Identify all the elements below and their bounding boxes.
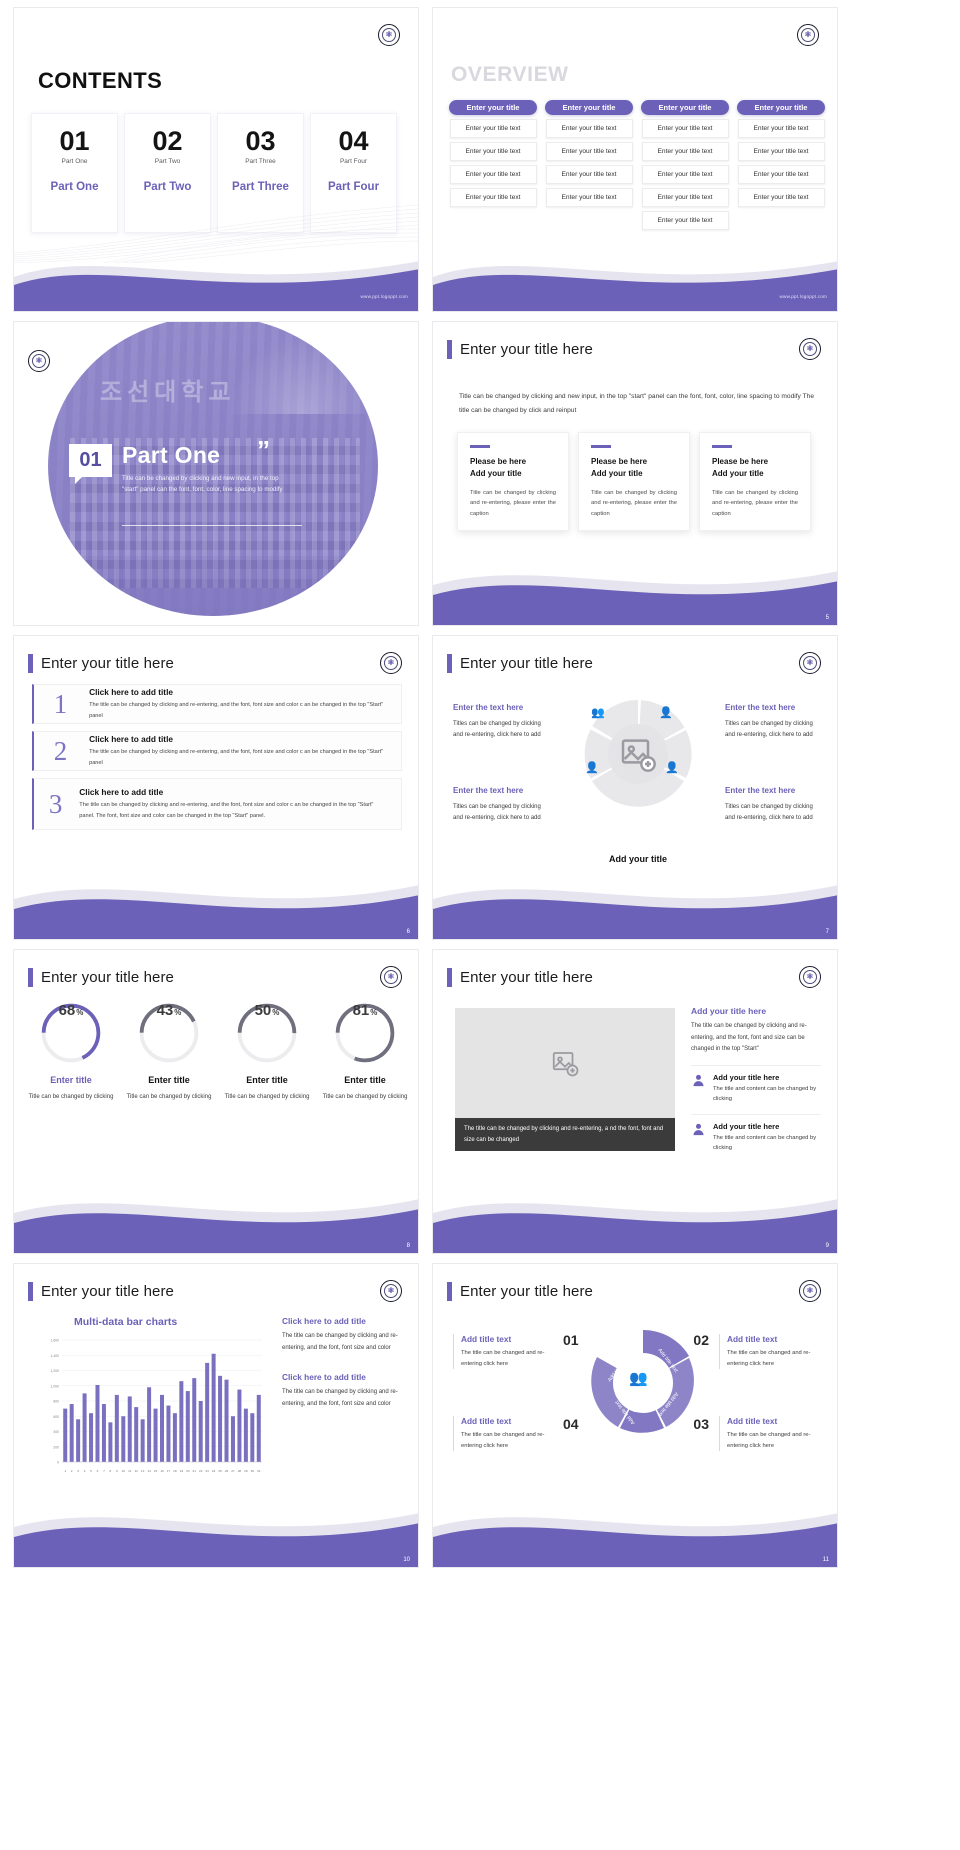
bar (257, 1395, 261, 1462)
cell-body: The title can be changed and re-entering… (727, 1348, 823, 1369)
panel-body: The title can be changed by clicking and… (691, 1021, 821, 1056)
footer-wave (14, 1493, 419, 1567)
donut-title: Enter title (148, 1075, 190, 1085)
donut-value: 81 (353, 1002, 370, 1019)
x-axis-tick-label: 13 (141, 1469, 145, 1473)
x-axis-tick-label: 3 (77, 1469, 79, 1473)
bar (250, 1413, 254, 1462)
slide-header: Enter your title here (447, 1282, 593, 1301)
x-axis-tick-label: 12 (134, 1469, 138, 1473)
slide-overview[interactable]: ⚛ OVERVIEW Enter your title Enter your t… (432, 7, 838, 312)
bar (134, 1407, 138, 1462)
item-body: The title and content can be changed by … (713, 1084, 821, 1105)
card-label: Part One (51, 181, 99, 193)
title-accent-bar (28, 968, 33, 987)
person-reading-icon: 👤 (665, 761, 679, 774)
cell-heading: Add title text (461, 1334, 557, 1344)
overview-item[interactable]: Enter your title text (450, 119, 537, 138)
donut-body: Title can be changed by clicking (127, 1092, 212, 1103)
page-number: 8 (407, 1243, 410, 1249)
image-placeholder-icon (618, 734, 658, 774)
donut-body: Title can be changed by clicking (323, 1092, 408, 1103)
x-axis-tick-label: 5 (90, 1469, 92, 1473)
y-axis-tick-label: 1,200 (51, 1369, 60, 1373)
university-crest-icon: ⚛ (799, 966, 821, 988)
donut-body: Title can be changed by clicking (29, 1092, 114, 1103)
university-crest-icon: ⚛ (378, 24, 400, 46)
block-heading: Enter the text here (725, 700, 821, 716)
bar (108, 1422, 112, 1462)
slide-header: Enter your title here (28, 1282, 174, 1301)
bar (205, 1363, 209, 1462)
x-axis-tick-label: 8 (110, 1469, 112, 1473)
slide-header: Enter your title here (447, 968, 593, 987)
donut-row: 68% Enter title Title can be changed by … (22, 1002, 414, 1103)
bar (186, 1391, 190, 1462)
overview-column: Enter your title Enter your title text E… (640, 100, 730, 230)
card-heading-line1: Please be here (712, 457, 768, 466)
x-axis-tick-label: 2 (71, 1469, 73, 1473)
block-body: Titles can be changed by clicking and re… (725, 802, 821, 825)
x-axis-tick-label: 9 (116, 1469, 118, 1473)
row-heading: Click here to add title (89, 687, 389, 697)
slide-three-cards[interactable]: ⚛ Enter your title here Title can be cha… (432, 321, 838, 626)
university-crest-icon: ⚛ (28, 350, 50, 372)
x-axis-tick-label: 1 (64, 1469, 66, 1473)
text-block-bottom-left: Enter the text here Titles can be change… (453, 783, 549, 825)
y-axis-tick-label: 0 (57, 1461, 59, 1465)
cycle-cell-3[interactable]: Add title text The title can be changed … (719, 1416, 823, 1451)
cell-heading: Add title text (727, 1416, 823, 1426)
column-pill[interactable]: Enter your title (545, 100, 633, 115)
quote-mark-icon: ” (257, 440, 270, 461)
overview-item[interactable]: Enter your title text (738, 188, 825, 207)
x-axis-tick-label: 14 (147, 1469, 151, 1473)
page-title: Enter your title here (41, 969, 174, 986)
cell-body: The title can be changed and re-entering… (461, 1430, 557, 1451)
title-accent-bar (447, 340, 452, 359)
x-axis-tick-label: 20 (186, 1469, 190, 1473)
x-axis-tick-label: 23 (205, 1469, 209, 1473)
info-card[interactable]: Please be hereAdd your title Title can b… (457, 432, 569, 531)
page-title: OVERVIEW (451, 63, 569, 87)
card-body: Title can be changed by clicking and re-… (591, 488, 677, 520)
bar (89, 1413, 93, 1462)
row-body: The title can be changed by clicking and… (79, 800, 389, 820)
donut-chart: 43% (138, 1002, 200, 1064)
row-heading: Click here to add title (79, 787, 389, 797)
donut-title: Enter title (246, 1075, 288, 1085)
slide-cycle-diagram[interactable]: ⚛ Enter your title here Add title text T… (432, 1263, 838, 1568)
row-body: The title can be changed by clicking and… (89, 700, 389, 720)
page-number: 5 (826, 615, 829, 621)
bar (237, 1390, 241, 1462)
overview-item[interactable]: Enter your title text (738, 165, 825, 184)
footer-wave (433, 1493, 838, 1567)
card-heading-line1: Please be here (470, 457, 526, 466)
row-heading: Click here to add title (89, 734, 389, 744)
slide-image-and-list[interactable]: ⚛ Enter your title here The title can be… (432, 949, 838, 1254)
title-accent-bar (447, 654, 452, 673)
chart-title: Multi-data bar charts (74, 1316, 177, 1328)
university-crest-icon: ⚛ (799, 652, 821, 674)
user-circle-icon: 👤 (585, 761, 599, 774)
bar (199, 1401, 203, 1462)
block-heading: Enter the text here (453, 783, 549, 799)
column-pill[interactable]: Enter your title (449, 100, 537, 115)
side-panel: Add your title here The title can be cha… (691, 1006, 821, 1154)
overview-item[interactable]: Enter your title text (450, 142, 537, 161)
card-number: 04 (338, 128, 368, 155)
x-axis-tick-label: 7 (103, 1469, 105, 1473)
team-people-icon: 👥 (629, 1369, 648, 1387)
x-axis-tick-label: 10 (122, 1469, 126, 1473)
overview-item[interactable]: Enter your title text (642, 188, 729, 207)
item-heading: Add your title here (713, 1073, 821, 1082)
row-number: 1 (46, 689, 75, 720)
bar (63, 1409, 67, 1462)
overview-column: Enter your title Enter your title text E… (736, 100, 826, 230)
part-heading: Part One (122, 442, 220, 469)
text-block-bottom-right: Enter the text here Titles can be change… (725, 783, 821, 825)
bar (121, 1416, 125, 1462)
donut-chart: 81% (334, 1002, 396, 1064)
slide-header: Enter your title here (28, 654, 174, 673)
slide-circle-segments[interactable]: ⚛ Enter your title here Enter the text h… (432, 635, 838, 940)
donut-item[interactable]: 50% Enter title Title can be changed by … (218, 1002, 316, 1103)
bar (212, 1354, 216, 1462)
overview-item[interactable]: Enter your title text (546, 142, 633, 161)
donut-unit: % (370, 1008, 377, 1017)
footer-wave (433, 1179, 838, 1253)
overview-item[interactable]: Enter your title text (642, 165, 729, 184)
card-row: Please be hereAdd your title Title can b… (457, 432, 811, 531)
title-accent-bar (447, 968, 452, 987)
diagram-caption: Add your title (578, 854, 698, 864)
page-title: Enter your title here (41, 655, 174, 672)
y-axis-tick-label: 1,400 (51, 1354, 60, 1358)
overview-item[interactable]: Enter your title text (546, 119, 633, 138)
person-badge-icon: 👤 (659, 706, 673, 719)
note-heading: Click here to add title (282, 1316, 407, 1326)
page-number: 11 (823, 1557, 829, 1563)
bar (102, 1404, 106, 1462)
chart-side-notes: Click here to add title The title can be… (282, 1316, 407, 1411)
overview-item[interactable]: Enter your title text (450, 165, 537, 184)
footer-wave (433, 237, 838, 311)
donut-chart: 68% (40, 1002, 102, 1064)
user-icon (691, 1122, 706, 1137)
block-body: Titles can be changed by clicking and re… (453, 802, 549, 825)
x-axis-tick-label: 22 (199, 1469, 203, 1473)
y-axis-tick-label: 1,600 (51, 1339, 60, 1343)
item-heading: Add your title here (713, 1122, 821, 1131)
bar (231, 1416, 235, 1462)
donut-unit: % (272, 1008, 279, 1017)
cycle-cell-2[interactable]: Add title text The title can be changed … (719, 1334, 823, 1369)
slide-part-one-cover[interactable]: ⚛ 조선대학교 01 Part One ” Title can be chang… (13, 321, 419, 626)
page-number: 9 (826, 1243, 829, 1249)
cycle-cell-4[interactable]: Add title text The title can be changed … (453, 1416, 557, 1451)
part-number-badge: 01 (69, 444, 112, 477)
bar (218, 1376, 222, 1462)
overview-column: Enter your title Enter your title text E… (544, 100, 634, 230)
bar (154, 1409, 158, 1462)
overview-item[interactable]: Enter your title text (546, 165, 633, 184)
card-accent-dash (470, 445, 490, 448)
card-label: Part Two (144, 181, 192, 193)
donut-value: 50 (255, 1002, 272, 1019)
user-icon (691, 1073, 706, 1088)
x-axis-tick-label: 24 (212, 1469, 216, 1473)
note-heading: Click here to add title (282, 1372, 407, 1382)
footer-wave (14, 1179, 419, 1253)
slide-percent-donuts[interactable]: ⚛ Enter your title here 68% Enter title … (13, 949, 419, 1254)
donut-item[interactable]: 81% Enter title Title can be changed by … (316, 1002, 414, 1103)
bar (147, 1387, 151, 1462)
bar (166, 1406, 170, 1462)
row-body: The title can be changed by clicking and… (89, 747, 389, 767)
info-card[interactable]: Please be hereAdd your title Title can b… (699, 432, 811, 531)
x-axis-tick-label: 6 (97, 1469, 99, 1473)
list-item[interactable]: 3 Click here to add title The title can … (32, 778, 402, 830)
overview-item[interactable]: Enter your title text (738, 119, 825, 138)
group-people-icon: 👥 (591, 706, 605, 719)
donut-unit: % (76, 1008, 83, 1017)
card-heading-line2: Add your title (591, 469, 643, 478)
bar (95, 1385, 99, 1462)
card-body: Title can be changed by clicking and re-… (712, 488, 798, 520)
card-heading-line1: Please be here (591, 457, 647, 466)
page-number: 4 (407, 615, 410, 621)
x-axis-tick-label: 16 (160, 1469, 164, 1473)
slide-deck-grid: ⚛ CONTENTS 01 Part One Part One 02 Part … (0, 0, 960, 1568)
card-subtitle: Part One (61, 158, 87, 165)
donut-item[interactable]: 43% Enter title Title can be changed by … (120, 1002, 218, 1103)
slide-numbered-list[interactable]: ⚛ Enter your title here 1 Click here to … (13, 635, 419, 940)
bar (179, 1381, 183, 1462)
card-label: Part Four (328, 181, 379, 193)
overview-column: Enter your title Enter your title text E… (448, 100, 538, 230)
page-title: Enter your title here (460, 655, 593, 672)
cycle-number-01: 01 (563, 1332, 579, 1348)
page-title: Enter your title here (41, 1283, 174, 1300)
x-axis-tick-label: 11 (128, 1469, 131, 1473)
title-accent-bar (28, 654, 33, 673)
overview-item[interactable]: Enter your title text (642, 119, 729, 138)
row-number: 3 (46, 789, 65, 820)
x-axis-tick-label: 31 (257, 1469, 261, 1473)
donut-chart: 50% (236, 1002, 298, 1064)
university-crest-icon: ⚛ (799, 1280, 821, 1302)
block-body: Titles can be changed by clicking and re… (725, 719, 821, 742)
y-axis-tick-label: 600 (53, 1415, 59, 1419)
text-block-top-right: Enter the text here Titles can be change… (725, 700, 821, 742)
image-placeholder-icon (550, 1048, 580, 1078)
note-body: The title can be changed by clicking and… (282, 1331, 407, 1354)
x-axis-tick-label: 30 (251, 1469, 255, 1473)
x-axis-tick-label: 25 (218, 1469, 222, 1473)
card-heading-line2: Add your title (712, 469, 764, 478)
photo-building-sign: 조선대학교 (100, 372, 235, 407)
card-heading-line2: Add your title (470, 469, 522, 478)
donut-body: Title can be changed by clicking (225, 1092, 310, 1103)
donut-title: Enter title (344, 1075, 386, 1085)
x-axis-tick-label: 19 (180, 1469, 184, 1473)
list-item[interactable]: Add your title here The title and conten… (691, 1065, 821, 1105)
bar (76, 1419, 80, 1462)
info-card[interactable]: Please be hereAdd your title Title can b… (578, 432, 690, 531)
block-body: Titles can be changed by clicking and re… (453, 719, 549, 742)
university-crest-icon: ⚛ (380, 652, 402, 674)
university-crest-icon: ⚛ (380, 966, 402, 988)
bar (244, 1409, 248, 1462)
y-axis-tick-label: 200 (53, 1445, 59, 1449)
x-axis-tick-label: 26 (225, 1469, 229, 1473)
x-axis-tick-label: 28 (238, 1469, 242, 1473)
overview-item[interactable]: Enter your title text (546, 188, 633, 207)
note-body: The title can be changed by clicking and… (282, 1387, 407, 1410)
card-number: 03 (245, 128, 275, 155)
page-number: 7 (826, 929, 829, 935)
university-crest-icon: ⚛ (380, 1280, 402, 1302)
card-subtitle: Part Three (245, 158, 276, 165)
slide-contents[interactable]: ⚛ CONTENTS 01 Part One Part One 02 Part … (13, 7, 419, 312)
cycle-cell-1[interactable]: Add title text The title can be changed … (453, 1334, 557, 1369)
image-placeholder[interactable] (455, 1008, 675, 1118)
cycle-number-04: 04 (563, 1416, 579, 1432)
footer-wave (433, 865, 838, 939)
x-axis-tick-label: 27 (231, 1469, 235, 1473)
y-axis-tick-label: 800 (53, 1400, 59, 1404)
page-title: Enter your title here (460, 341, 593, 358)
university-crest-icon: ⚛ (797, 24, 819, 46)
card-accent-dash (591, 445, 611, 448)
row-number: 2 (46, 736, 75, 767)
slide-header: Enter your title here (447, 340, 593, 359)
page-number: 6 (407, 929, 410, 935)
card-subtitle: Part Four (340, 158, 367, 165)
cell-heading: Add title text (727, 1334, 823, 1344)
bar (141, 1419, 145, 1462)
photo-ground (48, 556, 378, 616)
list-item[interactable]: 2 Click here to add title The title can … (32, 731, 402, 771)
slide-bar-chart[interactable]: ⚛ Enter your title here Multi-data bar c… (13, 1263, 419, 1568)
page-title: CONTENTS (38, 68, 162, 94)
bar (70, 1404, 74, 1462)
column-pill[interactable]: Enter your title (641, 100, 729, 115)
bar (115, 1395, 119, 1462)
y-axis-tick-label: 400 (53, 1430, 59, 1434)
card-number: 02 (152, 128, 182, 155)
bar (128, 1396, 132, 1462)
card-body: Title can be changed by clicking and re-… (470, 488, 556, 520)
text-block-top-left: Enter the text here Titles can be change… (453, 700, 549, 742)
cell-body: The title can be changed and re-entering… (727, 1430, 823, 1451)
page-number: 10 (403, 1557, 410, 1563)
donut-value: 68 (59, 1002, 76, 1019)
donut-title: Enter title (50, 1075, 92, 1085)
photo-hill (228, 334, 378, 414)
image-caption: The title can be changed by clicking and… (455, 1118, 675, 1151)
x-axis-tick-label: 15 (154, 1469, 158, 1473)
footer-wave (433, 551, 838, 625)
card-subtitle: Part Two (155, 158, 181, 165)
page-title: Enter your title here (460, 1283, 593, 1300)
slide-header: Enter your title here (28, 968, 174, 987)
bar (83, 1393, 87, 1462)
footer-url: www.ppt.logoppt.com (361, 294, 408, 299)
overview-item[interactable]: Enter your title text (450, 188, 537, 207)
card-accent-dash (712, 445, 732, 448)
column-pill[interactable]: Enter your title (737, 100, 825, 115)
overview-columns: Enter your title Enter your title text E… (448, 100, 826, 230)
title-accent-bar (28, 1282, 33, 1301)
list-item[interactable]: 1 Click here to add title The title can … (32, 684, 402, 724)
page-title: Enter your title here (460, 969, 593, 986)
card-number: 01 (59, 128, 89, 155)
donut-value: 43 (157, 1002, 174, 1019)
donut-unit: % (174, 1008, 181, 1017)
overview-item[interactable]: Enter your title text (738, 142, 825, 161)
x-axis-tick-label: 17 (167, 1469, 171, 1473)
list-item[interactable]: Add your title here The title and conten… (691, 1114, 821, 1154)
slide-header: Enter your title here (447, 654, 593, 673)
bar (160, 1395, 164, 1462)
panel-heading: Add your title here (691, 1006, 821, 1016)
bar (225, 1380, 229, 1462)
footer-wave (14, 237, 419, 311)
numbered-row-list: 1 Click here to add title The title can … (32, 684, 402, 837)
x-axis-tick-label: 29 (244, 1469, 248, 1473)
lead-paragraph: Title can be changed by clicking and new… (459, 390, 814, 418)
title-accent-bar (447, 1282, 452, 1301)
x-axis-tick-label: 4 (84, 1469, 86, 1473)
footer-url: www.ppt.logoppt.com (780, 294, 827, 299)
overview-item[interactable]: Enter your title text (642, 211, 729, 230)
block-heading: Enter the text here (725, 783, 821, 799)
divider-rule (122, 525, 302, 526)
bar (192, 1378, 196, 1462)
block-heading: Enter the text here (453, 700, 549, 716)
overview-item[interactable]: Enter your title text (642, 142, 729, 161)
x-axis-tick-label: 21 (193, 1469, 197, 1473)
y-axis-tick-label: 1,000 (51, 1384, 60, 1388)
part-body-text: Title can be changed by clicking and new… (122, 474, 292, 496)
card-label: Part Three (232, 181, 289, 193)
bar (173, 1413, 177, 1462)
cell-body: The title can be changed and re-entering… (461, 1348, 557, 1369)
item-body: The title and content can be changed by … (713, 1133, 821, 1154)
cell-heading: Add title text (461, 1416, 557, 1426)
footer-wave (14, 865, 419, 939)
donut-item[interactable]: 68% Enter title Title can be changed by … (22, 1002, 120, 1103)
university-crest-icon: ⚛ (799, 338, 821, 360)
bar-chart[interactable]: 02004006008001,0001,2001,4001,6001234567… (36, 1336, 266, 1476)
x-axis-tick-label: 18 (173, 1469, 177, 1473)
